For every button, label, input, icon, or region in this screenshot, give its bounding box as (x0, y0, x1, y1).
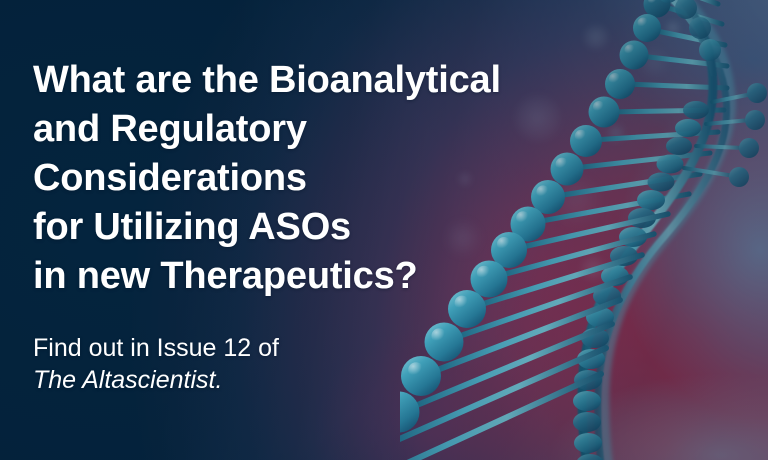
dna-rung (605, 69, 727, 99)
dna-bead-column (573, 101, 709, 460)
bokeh-dot (583, 24, 609, 50)
dna-backbone-far (598, 0, 727, 460)
dna-rung (620, 41, 728, 70)
dna-rung (589, 97, 725, 128)
subtitle-line-issue: Find out in Issue 12 of (33, 332, 593, 364)
dna-rung-group-right (684, 83, 767, 187)
bokeh-dot (663, 18, 683, 38)
dna-top-arc (626, 0, 721, 76)
banner-text-block: What are the Bioanalytical and Regulator… (33, 56, 593, 396)
dna-rung (650, 0, 718, 4)
bokeh-dot (637, 45, 671, 79)
dna-rung (633, 14, 725, 45)
dna-backbone-near (582, 0, 713, 460)
headline-line: for Utilizing ASOs (33, 203, 593, 252)
dna-strand-glow (604, 0, 731, 460)
headline-line: Considerations (33, 154, 593, 203)
dna-rung (684, 167, 749, 187)
dna-rung (712, 83, 767, 103)
promotional-banner: What are the Bioanalytical and Regulator… (0, 0, 768, 460)
bokeh-dot (605, 122, 627, 144)
dna-rung (696, 138, 759, 158)
headline-line: What are the Bioanalytical (33, 56, 593, 105)
headline-line: in new Therapeutics? (33, 252, 593, 301)
dna-rung (644, 0, 723, 24)
headline-line: and Regulatory (33, 105, 593, 154)
page-title: What are the Bioanalytical and Regulator… (33, 56, 593, 301)
subtitle-line-publication: The Altascientist. (33, 364, 593, 396)
dna-rung (706, 110, 765, 130)
banner-subtitle: Find out in Issue 12 of The Altascientis… (33, 301, 593, 396)
